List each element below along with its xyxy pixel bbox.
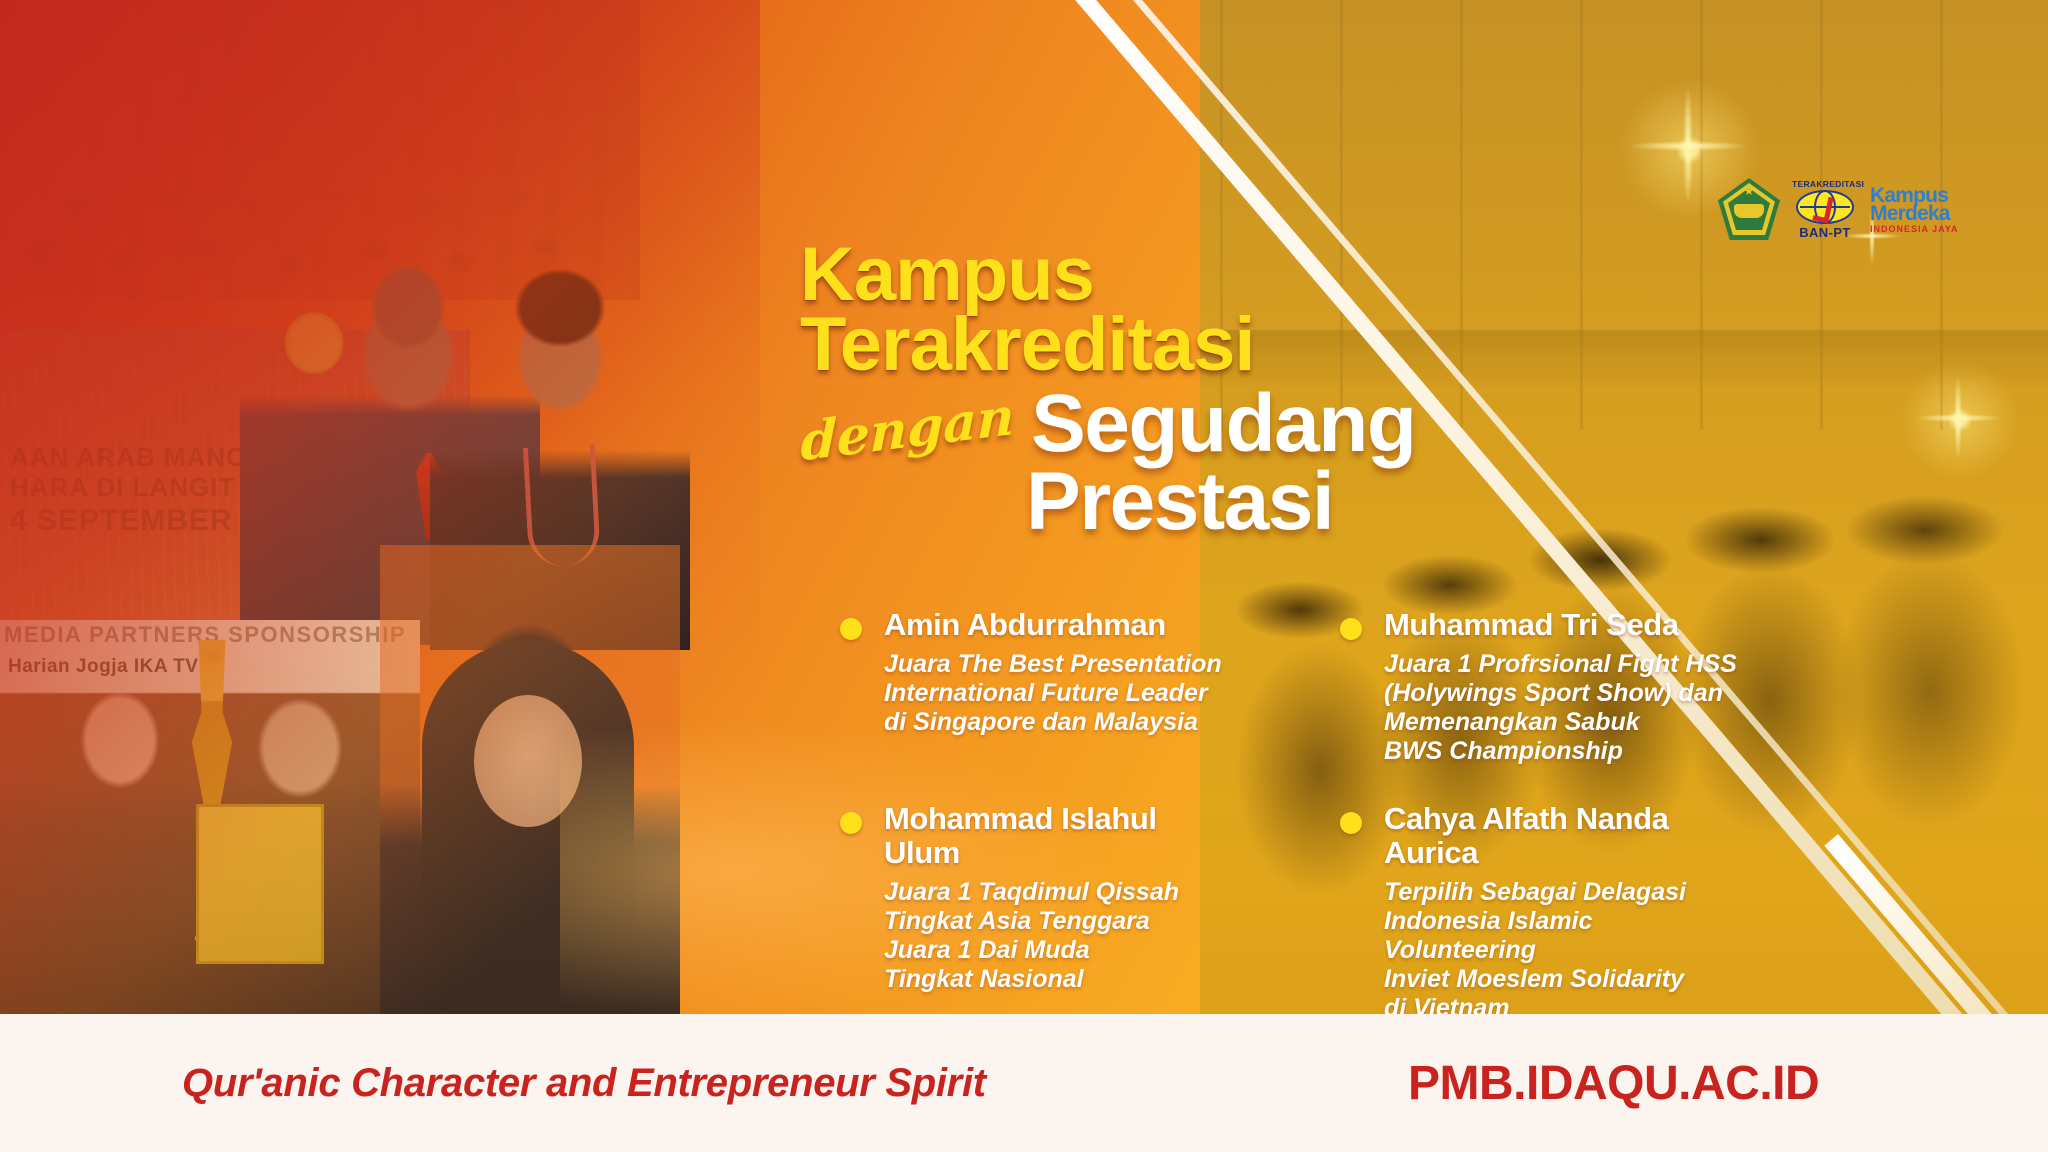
achievement-description: Terpilih Sebagai Delagasi Indonesia Isla… <box>1384 878 1740 1023</box>
achievement-description: Juara 1 Taqdimul Qissah Tingkat Asia Ten… <box>884 878 1240 994</box>
website-url[interactable]: PMB.IDAQU.AC.ID <box>1408 1056 1819 1111</box>
bullet-icon <box>1340 812 1362 834</box>
achievement-name: Mohammad Islahul Ulum <box>884 802 1240 870</box>
bullet-icon <box>1340 618 1362 640</box>
ban-pt-logo: TERAKREDITASI BAN-PT <box>1792 179 1858 240</box>
headline-block: Kampus Terakreditasi dengan Segudang Pre… <box>800 240 1560 542</box>
achievements-grid: Amin Abdurrahman Juara The Best Presenta… <box>840 608 1900 1023</box>
achievement-name: Cahya Alfath Nanda Aurica <box>1384 802 1740 870</box>
kampus-merdeka-line3: INDONESIA JAYA <box>1870 225 1962 234</box>
achievement-description: Juara The Best Presentation Internationa… <box>884 650 1240 737</box>
tagline: Qur'anic Character and Entrepreneur Spir… <box>182 1061 986 1106</box>
headline-line-3: Segudang <box>1031 386 1415 462</box>
footer-bar: Qur'anic Character and Entrepreneur Spir… <box>0 1014 2048 1152</box>
achievement-name: Muhammad Tri Seda <box>1384 608 1740 642</box>
headline-line-2: Terakreditasi <box>800 310 1560 380</box>
achievement-item: Amin Abdurrahman Juara The Best Presenta… <box>840 608 1240 766</box>
ban-pt-top-label: TERAKREDITASI <box>1792 179 1858 189</box>
headline-script-dengan: dengan <box>800 391 1015 476</box>
achievement-name: Amin Abdurrahman <box>884 608 1240 642</box>
kampus-merdeka-logo: Kampus Merdeka INDONESIA JAYA <box>1870 185 1962 234</box>
accreditation-logos: TERAKREDITASI BAN-PT Kampus Merdeka INDO… <box>1718 178 1962 240</box>
achievement-item: Mohammad Islahul Ulum Juara 1 Taqdimul Q… <box>840 802 1240 1023</box>
achievement-item: Cahya Alfath Nanda Aurica Terpilih Sebag… <box>1340 802 1740 1023</box>
kemenag-logo <box>1718 178 1780 240</box>
book-icon <box>1734 204 1764 218</box>
kampus-merdeka-line2: Merdeka <box>1870 203 1962 224</box>
globe-icon <box>1796 190 1854 224</box>
achievement-item: Muhammad Tri Seda Juara 1 Profrsional Fi… <box>1340 608 1740 766</box>
bullet-icon <box>840 618 862 640</box>
achievement-description: Juara 1 Profrsional Fight HSS (Holywings… <box>1384 650 1740 766</box>
promotional-banner: AAN ARAB MANCA HARA DI LANGIT DUNIA 4 SE… <box>0 0 2048 1152</box>
ban-pt-label: BAN-PT <box>1792 225 1858 240</box>
bullet-icon <box>840 812 862 834</box>
headline-line-1: Kampus <box>800 240 1560 310</box>
headline-line-4: Prestasi <box>1026 462 1560 542</box>
